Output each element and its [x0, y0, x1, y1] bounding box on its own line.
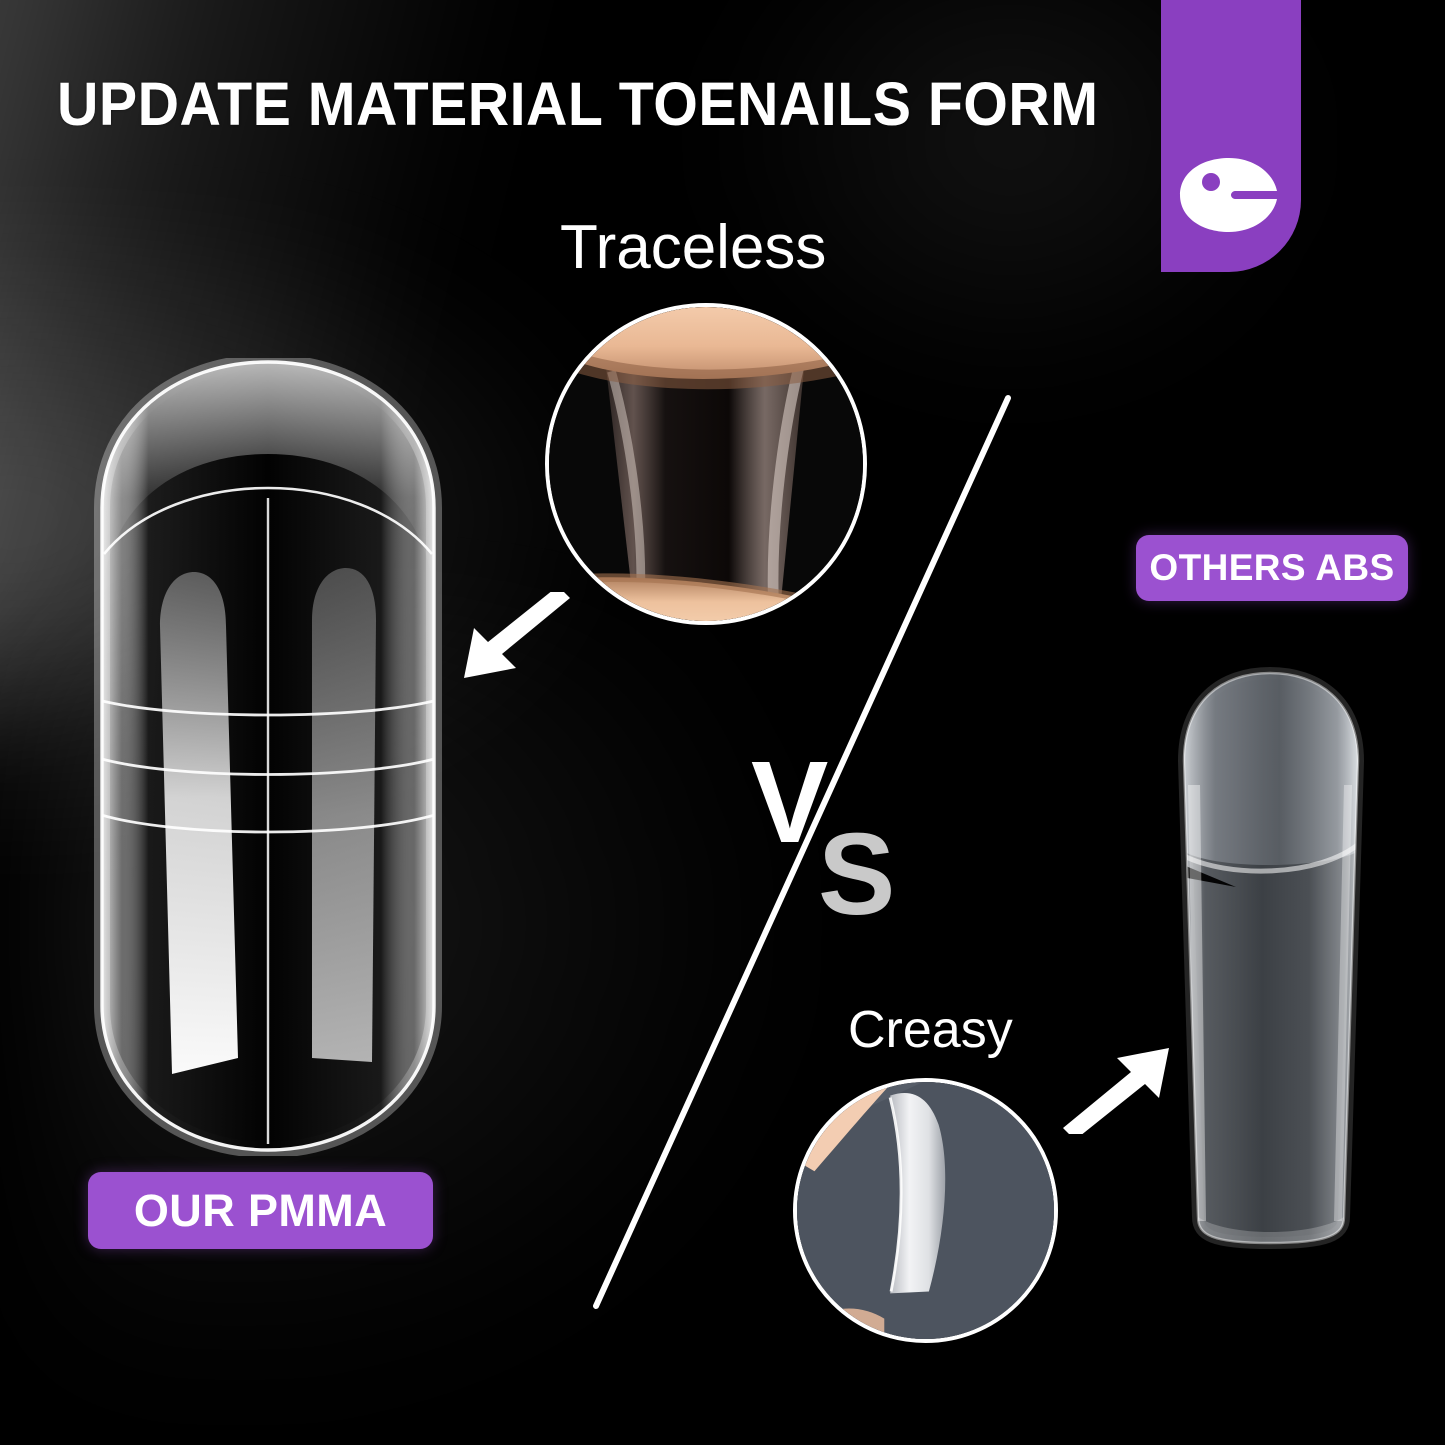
badge-our-pmma: OUR PMMA	[88, 1172, 433, 1249]
arrow-pointing-to-abs-tip	[1055, 1042, 1175, 1134]
creasy-closeup-inset	[793, 1078, 1058, 1343]
traceless-closeup-image	[549, 307, 863, 621]
vs-letter-s: S	[818, 816, 895, 932]
pmma-nail-tip	[76, 358, 461, 1156]
traceless-closeup-inset	[545, 303, 867, 625]
product-comparison-graphic: UPDATE MATERIAL TOENAILS FORM	[0, 0, 1445, 1445]
brand-logo-banner	[1161, 0, 1301, 272]
arrow-pointing-to-pmma-tip	[458, 592, 578, 684]
chameleon-logo-icon	[1177, 156, 1281, 234]
caption-creasy: Creasy	[848, 1000, 1013, 1060]
badge-others-abs: OTHERS ABS	[1136, 535, 1408, 601]
creasy-closeup-image	[797, 1082, 1054, 1339]
page-title: UPDATE MATERIAL TOENAILS FORM	[57, 72, 1099, 136]
vs-letter-v: V	[751, 744, 828, 860]
caption-traceless: Traceless	[560, 212, 826, 283]
abs-nail-tip	[1148, 665, 1393, 1250]
